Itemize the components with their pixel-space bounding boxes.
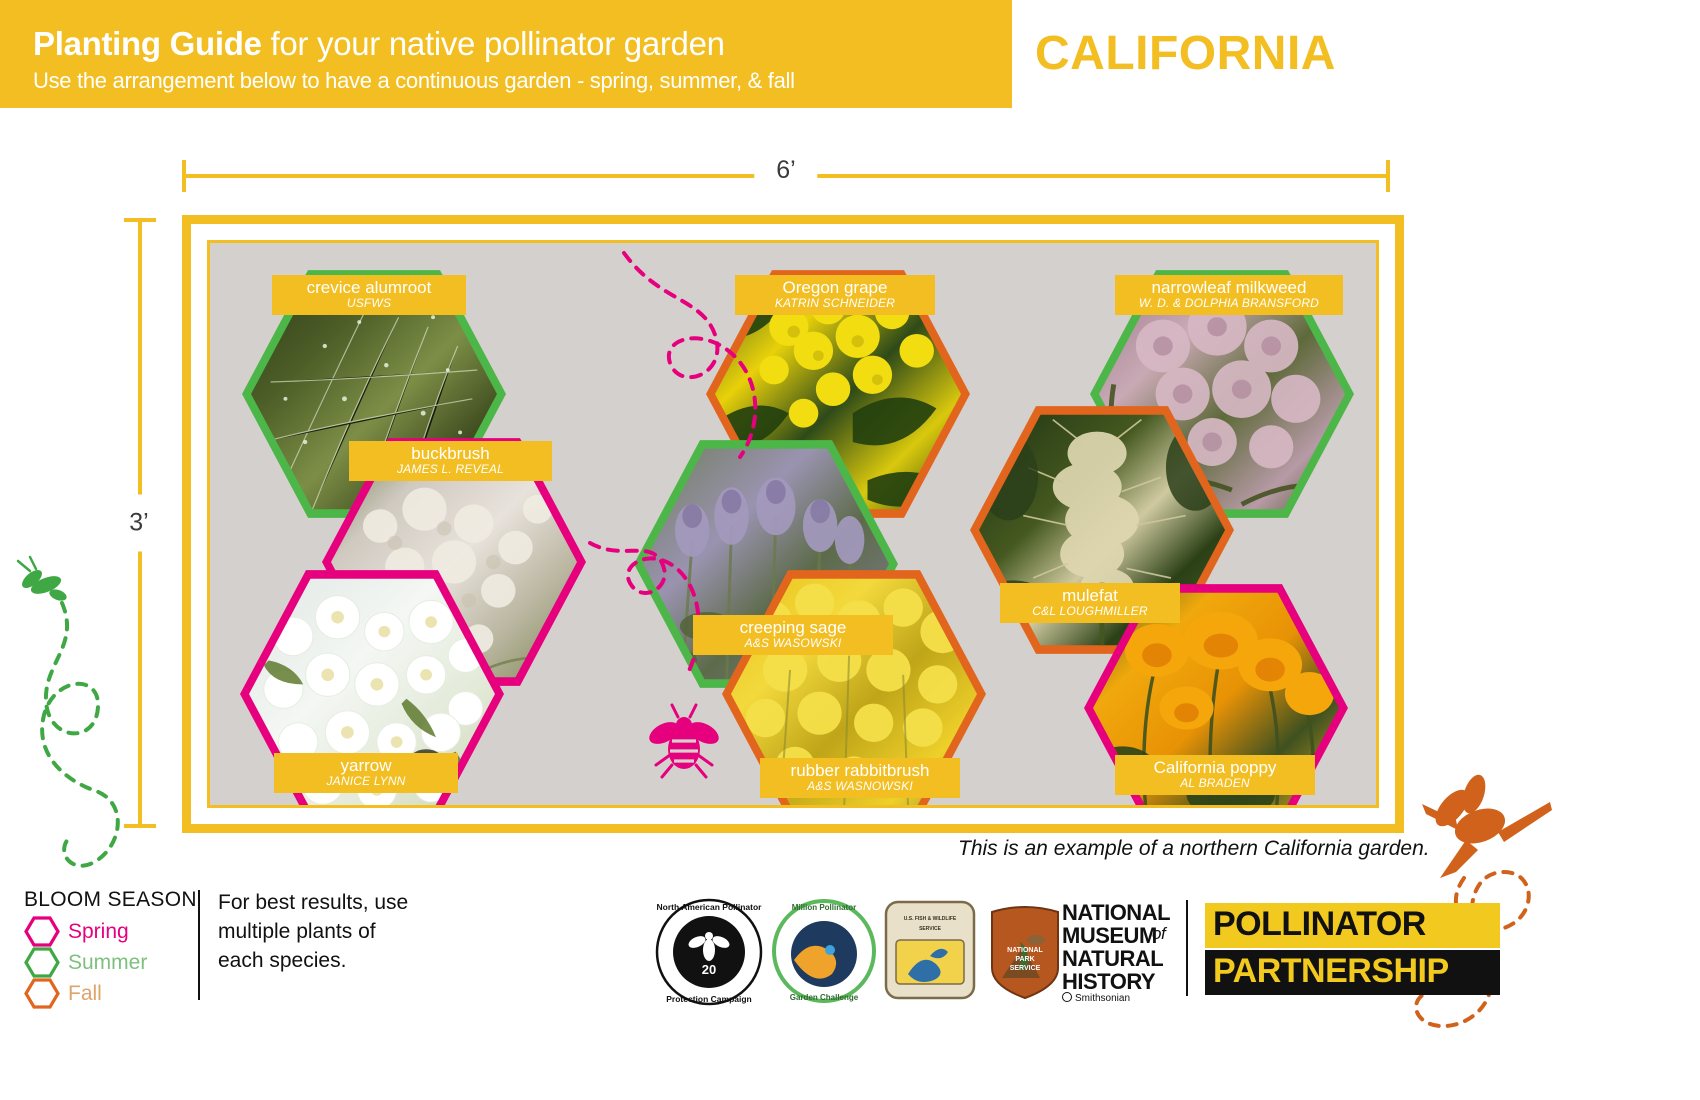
logo-national-park-service: NATIONAL PARK SERVICE xyxy=(984,900,1066,1000)
page-title-bold: Planting Guide xyxy=(33,25,262,62)
plant-label-yarrow: yarrow JANICE LYNN xyxy=(274,753,458,793)
plant-name: crevice alumroot xyxy=(282,278,456,297)
hexagon-icon-spring xyxy=(24,916,60,947)
width-dimension-label: 6’ xyxy=(754,156,817,185)
plant-credit: W. D. & DOLPHIA BRANSFORD xyxy=(1125,297,1333,310)
plant-name: mulefat xyxy=(1010,586,1170,605)
nps-line-2: PARK xyxy=(1015,956,1034,963)
dimension-cap-top xyxy=(124,218,156,222)
mpgc-bottom-text: Garden Challenge xyxy=(790,993,859,1002)
plant-label-buckbrush: buckbrush JAMES L. REVEAL xyxy=(349,441,552,481)
page-title: Planting Guide for your native pollinato… xyxy=(33,25,725,63)
plant-name: buckbrush xyxy=(359,444,542,463)
logo-us-fish-and-wildlife-service: U.S. FISH & WILDLIFE SERVICE xyxy=(884,900,976,1000)
legend-label-spring: Spring xyxy=(68,920,129,944)
hexagon-icon-fall xyxy=(24,978,60,1009)
nps-line-3: SERVICE xyxy=(1010,965,1041,972)
garden-caption: This is an example of a northern Califor… xyxy=(958,837,1430,861)
plant-credit: KATRIN SCHNEIDER xyxy=(745,297,925,310)
legend-item-fall: Fall xyxy=(24,978,404,1009)
nappc-top-text: North American Pollinator xyxy=(656,902,762,912)
plant-label-rubber-rabbitbrush: rubber rabbitbrush A&S WASNOWSKI xyxy=(760,758,960,798)
logo-million-pollinator-garden-challenge: Million Pollinator Garden Challenge xyxy=(772,898,876,1004)
garden-bed: crevice alumroot USFWS xyxy=(207,240,1379,808)
page-subtitle: Use the arrangement below to have a cont… xyxy=(33,68,795,94)
usfws-line-1: U.S. FISH & WILDLIFE xyxy=(904,916,957,922)
plant-name: California poppy xyxy=(1125,758,1305,777)
bee-icon xyxy=(634,703,734,783)
plant-credit: JANICE LYNN xyxy=(284,775,448,788)
page-title-rest: for your native pollinator garden xyxy=(262,25,725,62)
dimension-cap-bottom xyxy=(124,824,156,828)
nps-line-1: NATIONAL xyxy=(1007,947,1043,954)
usfws-line-2: SERVICE xyxy=(919,926,942,932)
plant-name: Oregon grape xyxy=(745,278,925,297)
dimension-cap-left xyxy=(182,160,186,192)
plant-credit: C&L LOUGHMILLER xyxy=(1010,605,1170,618)
plant-name: yarrow xyxy=(284,756,448,775)
width-dimension: 6’ xyxy=(182,160,1390,190)
plant-label-crevice-alumroot: crevice alumroot USFWS xyxy=(272,275,466,315)
plant-credit: A&S WASOWSKI xyxy=(703,637,883,650)
pp-top-band: POLLINATOR xyxy=(1205,903,1500,948)
pp-line-1: POLLINATOR xyxy=(1213,905,1426,944)
plant-label-creeping-sage: creeping sage A&S WASOWSKI xyxy=(693,615,893,655)
nappc-bottom-text: Protection Campaign xyxy=(666,994,751,1004)
plant-credit: JAMES L. REVEAL xyxy=(359,463,542,476)
legend-label-summer: Summer xyxy=(68,951,147,975)
footer-divider xyxy=(1186,900,1188,996)
height-dimension: 3’ xyxy=(124,218,154,828)
mpgc-top-text: Million Pollinator xyxy=(792,903,856,912)
pp-line-2: PARTNERSHIP xyxy=(1213,952,1449,991)
plant-label-mulefat: mulefat C&L LOUGHMILLER xyxy=(1000,583,1180,623)
state-name: CALIFORNIA xyxy=(1035,26,1336,81)
plant-label-oregon-grape: Oregon grape KATRIN SCHNEIDER xyxy=(735,275,935,315)
plant-label-california-poppy: California poppy AL BRADEN xyxy=(1115,755,1315,795)
height-dimension-label: 3’ xyxy=(129,495,148,552)
dimension-cap-right xyxy=(1386,160,1390,192)
plant-name: rubber rabbitbrush xyxy=(770,761,950,780)
smithsonian-label: Smithsonian xyxy=(1075,993,1130,1004)
plant-name: narrowleaf milkweed xyxy=(1125,278,1333,297)
nmnh-of: of xyxy=(1152,924,1165,944)
nappc-anniversary-number: 20 xyxy=(702,962,716,977)
hexagon-icon-summer xyxy=(24,947,60,978)
plant-credit: AL BRADEN xyxy=(1125,777,1305,790)
legend-label-fall: Fall xyxy=(68,982,102,1006)
legend-divider xyxy=(198,890,200,1000)
pp-bottom-band: PARTNERSHIP xyxy=(1205,950,1500,995)
garden-bed-frame: crevice alumroot USFWS xyxy=(182,215,1404,833)
plant-credit: A&S WASNOWSKI xyxy=(770,780,950,793)
plant-name: creeping sage xyxy=(703,618,883,637)
logo-north-american-pollinator-protection-campaign: 20 North American Pollinator Protection … xyxy=(655,898,763,1006)
logo-pollinator-partnership: POLLINATOR PARTNERSHIP xyxy=(1205,903,1500,995)
smithsonian-sun-icon xyxy=(1062,992,1072,1002)
plant-label-narrowleaf-milkweed: narrowleaf milkweed W. D. & DOLPHIA BRAN… xyxy=(1115,275,1343,315)
nmnh-smithsonian: Smithsonian xyxy=(1062,992,1130,1004)
plant-credit: USFWS xyxy=(282,297,456,310)
logo-national-museum-of-natural-history: NATIONAL MUSEUM of NATURAL HISTORY Smith… xyxy=(1062,898,1177,998)
advice-text: For best results, use multiple plants of… xyxy=(218,888,418,975)
